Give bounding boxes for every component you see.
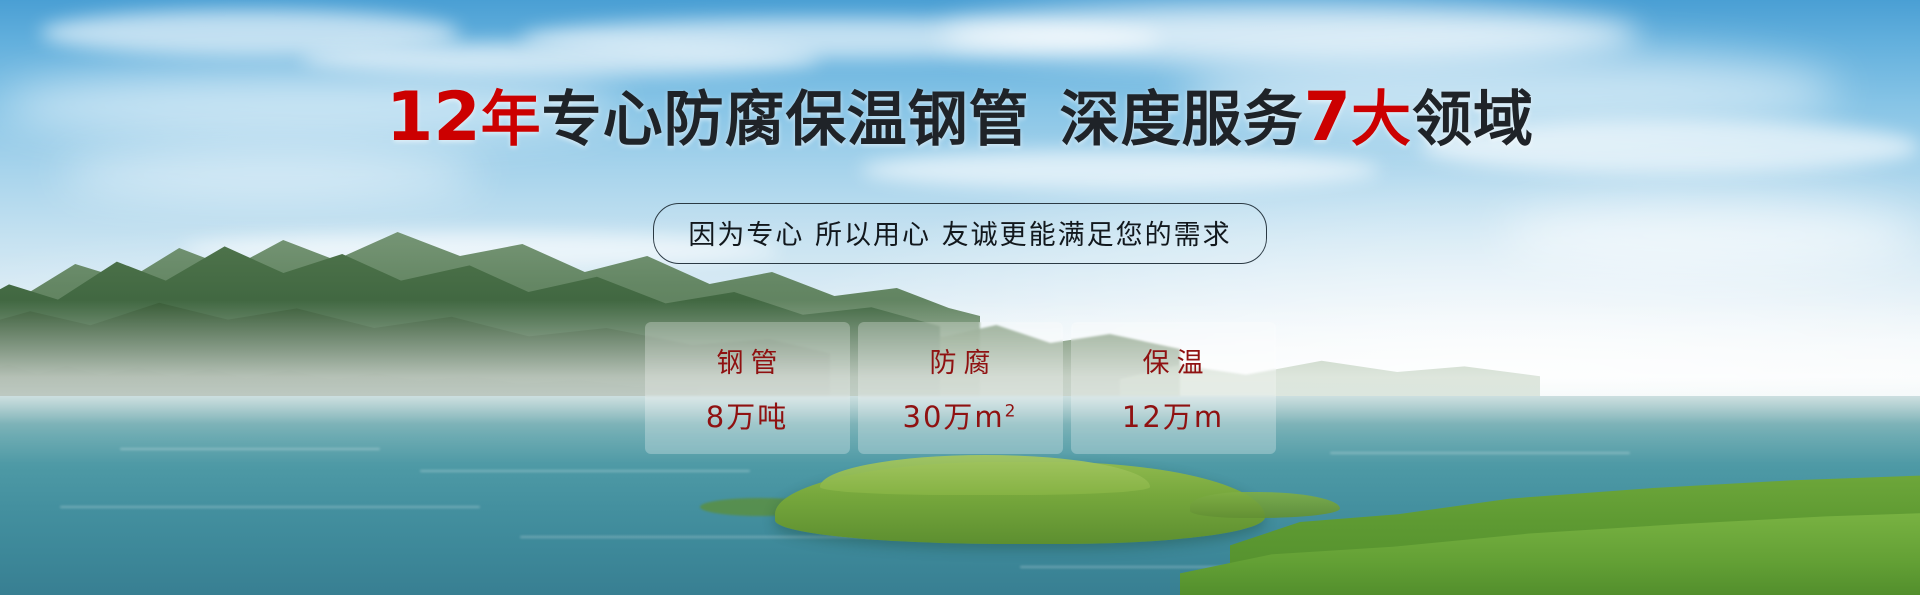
stat-card-steel-pipe: 钢管 8万吨 xyxy=(645,322,850,454)
subtitle-container: 因为专心 所以用心 友诚更能满足您的需求 xyxy=(0,203,1920,264)
stat-card-value: 30万m2 xyxy=(903,394,1018,436)
stat-card-list: 钢管 8万吨 防腐 30万m2 保温 12万m xyxy=(0,322,1920,454)
stat-card-insulation: 保温 12万m xyxy=(1071,322,1276,454)
stat-card-value-text: 30万m xyxy=(903,400,1005,434)
headline-main-text: 专心防腐保温钢管 xyxy=(542,85,1030,155)
headline-years-number: 12 xyxy=(386,78,481,157)
stat-card-value-superscript: 2 xyxy=(1005,401,1018,421)
headline-service-text: 深度服务 xyxy=(1060,85,1304,155)
headline-years-unit: 年 xyxy=(481,85,542,155)
promo-banner: 12年专心防腐保温钢管深度服务7大领域 因为专心 所以用心 友诚更能满足您的需求… xyxy=(0,0,1920,595)
headline: 12年专心防腐保温钢管深度服务7大领域 xyxy=(0,84,1920,152)
stat-card-label: 防腐 xyxy=(923,341,998,380)
stat-card-value-text: 8万吨 xyxy=(706,400,788,434)
headline-fields-text: 领域 xyxy=(1412,85,1534,155)
banner-content: 12年专心防腐保温钢管深度服务7大领域 因为专心 所以用心 友诚更能满足您的需求… xyxy=(0,0,1920,595)
stat-card-value: 8万吨 xyxy=(706,394,788,436)
headline-fields-number: 7 xyxy=(1304,78,1351,157)
stat-card-value: 12万m xyxy=(1122,394,1224,436)
stat-card-label: 保温 xyxy=(1136,341,1211,380)
subtitle-pill: 因为专心 所以用心 友诚更能满足您的需求 xyxy=(653,203,1266,264)
stat-card-label: 钢管 xyxy=(710,341,785,380)
stat-card-anticorrosion: 防腐 30万m2 xyxy=(858,322,1063,454)
headline-fields-unit: 大 xyxy=(1351,85,1412,155)
stat-card-value-text: 12万m xyxy=(1122,400,1224,434)
